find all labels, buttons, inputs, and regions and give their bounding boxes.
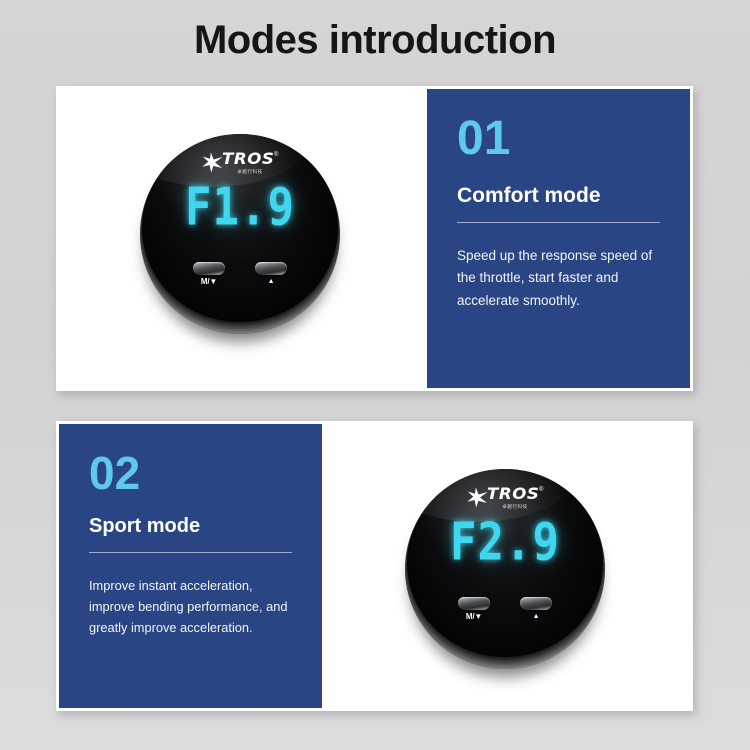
led-display-value: F2.9	[407, 512, 603, 572]
mode-panel-comfort: TROS ® 卓越行科技 F1.9 M/▼ ▲	[56, 86, 693, 391]
divider	[457, 222, 660, 223]
mode-up-button[interactable]: ▲	[255, 262, 287, 286]
device-image-cell: TROS ® 卓越行科技 F1.9 M/▼ ▲	[56, 86, 424, 391]
mode-name: Sport mode	[89, 516, 292, 536]
device-face: TROS ® 卓越行科技 F1.9 M/▼ ▲	[142, 134, 338, 322]
mode-down-button-label: M/▼	[201, 278, 217, 286]
mode-info-cell: 01 Comfort mode Speed up the response sp…	[424, 86, 693, 391]
mode-panel-sport: TROS ® 卓越行科技 F2.9 M/▼ ▲	[56, 421, 693, 711]
brand-subtext: 卓越行科技	[502, 505, 527, 510]
device-brand-logo: TROS ® 卓越行科技	[142, 151, 338, 174]
mode-description: Speed up the response speed of the throt…	[457, 245, 660, 312]
brand-subtext: 卓越行科技	[237, 170, 262, 175]
mode-down-button[interactable]: M/▼	[193, 262, 225, 286]
mode-down-button-cap[interactable]	[193, 262, 225, 275]
brand-name: TROS	[222, 151, 274, 167]
mode-down-button-label: M/▼	[466, 613, 482, 621]
registered-mark-icon: ®	[274, 152, 278, 158]
device-brand-logo: TROS ® 卓越行科技	[407, 486, 603, 509]
mode-info-cell: 02 Sport mode Improve instant accelerati…	[56, 421, 325, 711]
mode-up-button-cap[interactable]	[520, 597, 552, 610]
page-title: Modes introduction	[0, 18, 750, 63]
device-button-row: M/▼ ▲	[407, 597, 603, 621]
brand-name: TROS	[487, 486, 539, 502]
throttle-controller-device: TROS ® 卓越行科技 F2.9 M/▼ ▲	[405, 469, 605, 669]
registered-mark-icon: ®	[539, 487, 543, 493]
star-logo-icon	[467, 487, 488, 508]
led-display-value: F1.9	[142, 177, 338, 237]
throttle-controller-device: TROS ® 卓越行科技 F1.9 M/▼ ▲	[140, 134, 340, 334]
device-button-row: M/▼ ▲	[142, 262, 338, 286]
brand-text-wrap: TROS ® 卓越行科技	[222, 151, 279, 174]
brand-text-wrap: TROS ® 卓越行科技	[487, 486, 544, 509]
mode-name: Comfort mode	[457, 185, 660, 206]
mode-description: Improve instant acceleration, improve be…	[89, 575, 292, 638]
mode-down-button-cap[interactable]	[458, 597, 490, 610]
mode-down-button[interactable]: M/▼	[458, 597, 490, 621]
mode-up-button-label: ▲	[533, 613, 540, 620]
mode-number: 02	[89, 450, 292, 496]
mode-up-button-label: ▲	[268, 278, 275, 285]
device-face: TROS ® 卓越行科技 F2.9 M/▼ ▲	[407, 469, 603, 657]
mode-up-button-cap[interactable]	[255, 262, 287, 275]
device-image-cell: TROS ® 卓越行科技 F2.9 M/▼ ▲	[325, 421, 693, 711]
mode-number: 01	[457, 115, 660, 163]
mode-up-button[interactable]: ▲	[520, 597, 552, 621]
star-logo-icon	[202, 152, 223, 173]
divider	[89, 552, 292, 553]
